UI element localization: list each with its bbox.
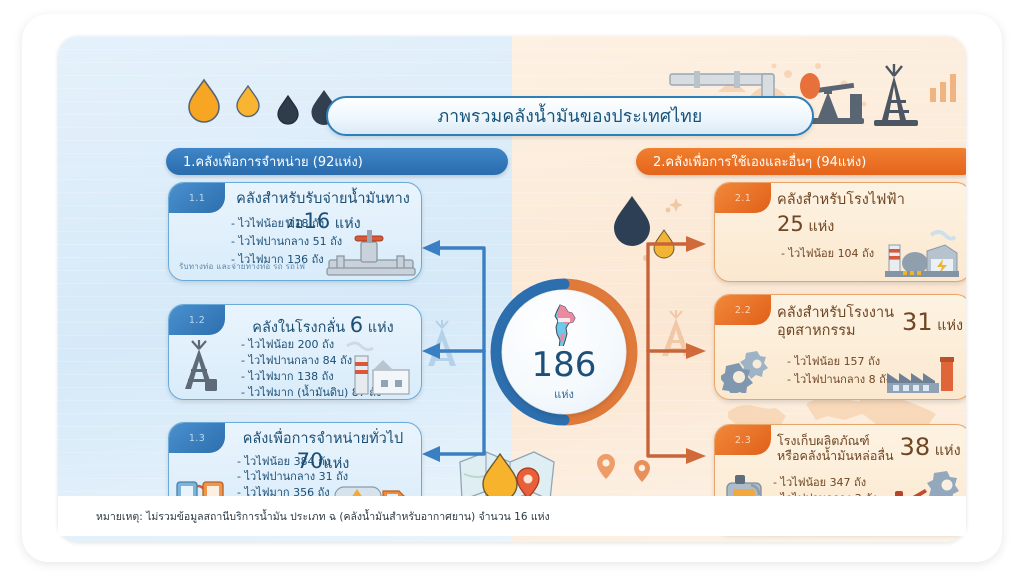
thailand-map-icon (549, 304, 579, 346)
total-summary-ring: 186 แห่ง (488, 276, 640, 428)
page-title-text: ภาพรวมคลังน้ำมันของประเทศไทย (438, 102, 703, 130)
list-item: - ไวไฟน้อย 104 ถัง (781, 245, 874, 263)
oil-drops-decoration (154, 72, 334, 134)
oil-drop-icon (237, 86, 259, 117)
card-2-1-title-text: คลังสำหรับโรงไฟฟ้า (777, 192, 957, 210)
card-2-1-unit: แห่ง (808, 219, 834, 235)
refinery-icon (341, 340, 415, 398)
card-2-3-title-line1: โรงเก็บผลิตภัณฑ์ (777, 433, 894, 448)
list-item: - ไวไฟน้อย 384 ถัง (237, 454, 377, 469)
card-2-3-count: 38 (900, 433, 931, 461)
card-2-3-title-line2: หรือคลังน้ำมันหล่อลื่น (777, 448, 894, 463)
infographic-screen: ภาพรวมคลังน้ำมันของประเทศไทย 1.คลังเพื่อ… (0, 0, 1024, 576)
card-2-1-list: - ไวไฟน้อย 104 ถัง (781, 245, 874, 263)
outer-frame: ภาพรวมคลังน้ำมันของประเทศไทย 1.คลังเพื่อ… (22, 14, 1002, 562)
card-1-1-badge: 1.1 (169, 183, 225, 213)
list-item: - ไวไฟน้อย 157 ถัง (787, 353, 891, 371)
section-header-distribution-label: 1.คลังเพื่อการจำหน่าย (92แห่ง) (183, 151, 363, 172)
oil-derrick-icon (175, 335, 227, 397)
card-2-1[interactable]: 2.1 คลังสำหรับโรงไฟฟ้า 25 แห่ง - ไวไฟน้อ… (714, 182, 966, 282)
total-count: 186 (532, 348, 597, 382)
card-2-1-badge: 2.1 (715, 183, 771, 213)
total-unit: แห่ง (554, 385, 574, 403)
card-2-2-list: - ไวไฟน้อย 157 ถัง - ไวไฟปานกลาง 8 ถัง (787, 353, 891, 389)
card-1-2-unit: แห่ง (368, 320, 394, 336)
gears-icon (721, 347, 779, 393)
card-1-2-badge: 1.2 (169, 305, 225, 335)
section-header-own-use-label: 2.คลังเพื่อการใช้เองและอื่นๆ (94แห่ง) (653, 151, 866, 172)
arrow-head-right (686, 236, 706, 464)
list-item: - ไวไฟปานกลาง 8 ถัง (787, 371, 891, 389)
card-1-2-title: คลังในโรงกลั่น 6 แห่ง (227, 313, 419, 339)
card-2-3-unit: แห่ง (935, 443, 961, 459)
page-title: ภาพรวมคลังน้ำมันของประเทศไทย (326, 96, 814, 136)
card-2-2-title: คลังสำหรับโรงงาน อุตสาหกรรม 31 แห่ง (777, 304, 966, 340)
factory-icon (883, 355, 965, 397)
bar-chart-icon (930, 74, 956, 102)
power-plant-icon (879, 229, 965, 279)
card-2-1-count: 25 (777, 212, 804, 236)
section-header-own-use[interactable]: 2.คลังเพื่อการใช้เองและอื่นๆ (94แห่ง) (636, 148, 966, 175)
card-1-1[interactable]: 1.1 คลังสำหรับรับจ่ายน้ำมันทางท่อ16 แห่ง… (168, 182, 422, 281)
card-1-3-title-text: คลังเพื่อการจำหน่ายทั่วไป (243, 431, 404, 447)
footnote-text: หมายเหตุ: ไม่รวมข้อมูลสถานีบริการน้ำมัน … (96, 508, 550, 525)
pipe-valve-icon (325, 226, 417, 278)
arrow-head-left (422, 240, 440, 462)
card-2-2-unit: แห่ง (937, 318, 963, 334)
card-2-3-title: โรงเก็บผลิตภัณฑ์ หรือคลังน้ำมันหล่อลื่น … (777, 433, 966, 463)
card-1-2-title-text: คลังในโรงกลั่น (252, 320, 345, 336)
card-2-3-badge: 2.3 (715, 425, 771, 455)
content-frame: ภาพรวมคลังน้ำมันของประเทศไทย 1.คลังเพื่อ… (58, 36, 966, 542)
section-header-distribution[interactable]: 1.คลังเพื่อการจำหน่าย (92แห่ง) (166, 148, 508, 175)
card-1-1-note: รับทางท่อ และจ่ายทางท่อ รถ รถไฟ (179, 260, 305, 273)
card-2-2-title-line2: อุตสาหกรรม (777, 322, 894, 340)
card-2-2-badge: 2.2 (715, 295, 771, 325)
footnote: หมายเหตุ: ไม่รวมข้อมูลสถานีบริการน้ำมัน … (58, 496, 966, 536)
card-2-2[interactable]: 2.2 คลังสำหรับโรงงาน อุตสาหกรรม 31 แห่ง … (714, 294, 966, 400)
card-2-2-title-line1: คลังสำหรับโรงงาน (777, 304, 894, 322)
oil-drop-icon (189, 80, 219, 122)
card-1-2-count: 6 (350, 313, 363, 337)
oil-drop-dark-icon (278, 96, 298, 124)
total-summary-core: 186 แห่ง (502, 290, 626, 414)
oil-derrick-icon (874, 64, 918, 126)
card-1-3-badge: 1.3 (169, 423, 225, 453)
card-2-2-count: 31 (902, 308, 933, 336)
card-1-2[interactable]: 1.2 คลังในโรงกลั่น 6 แห่ง - ไวไฟน้อย 200… (168, 304, 422, 400)
